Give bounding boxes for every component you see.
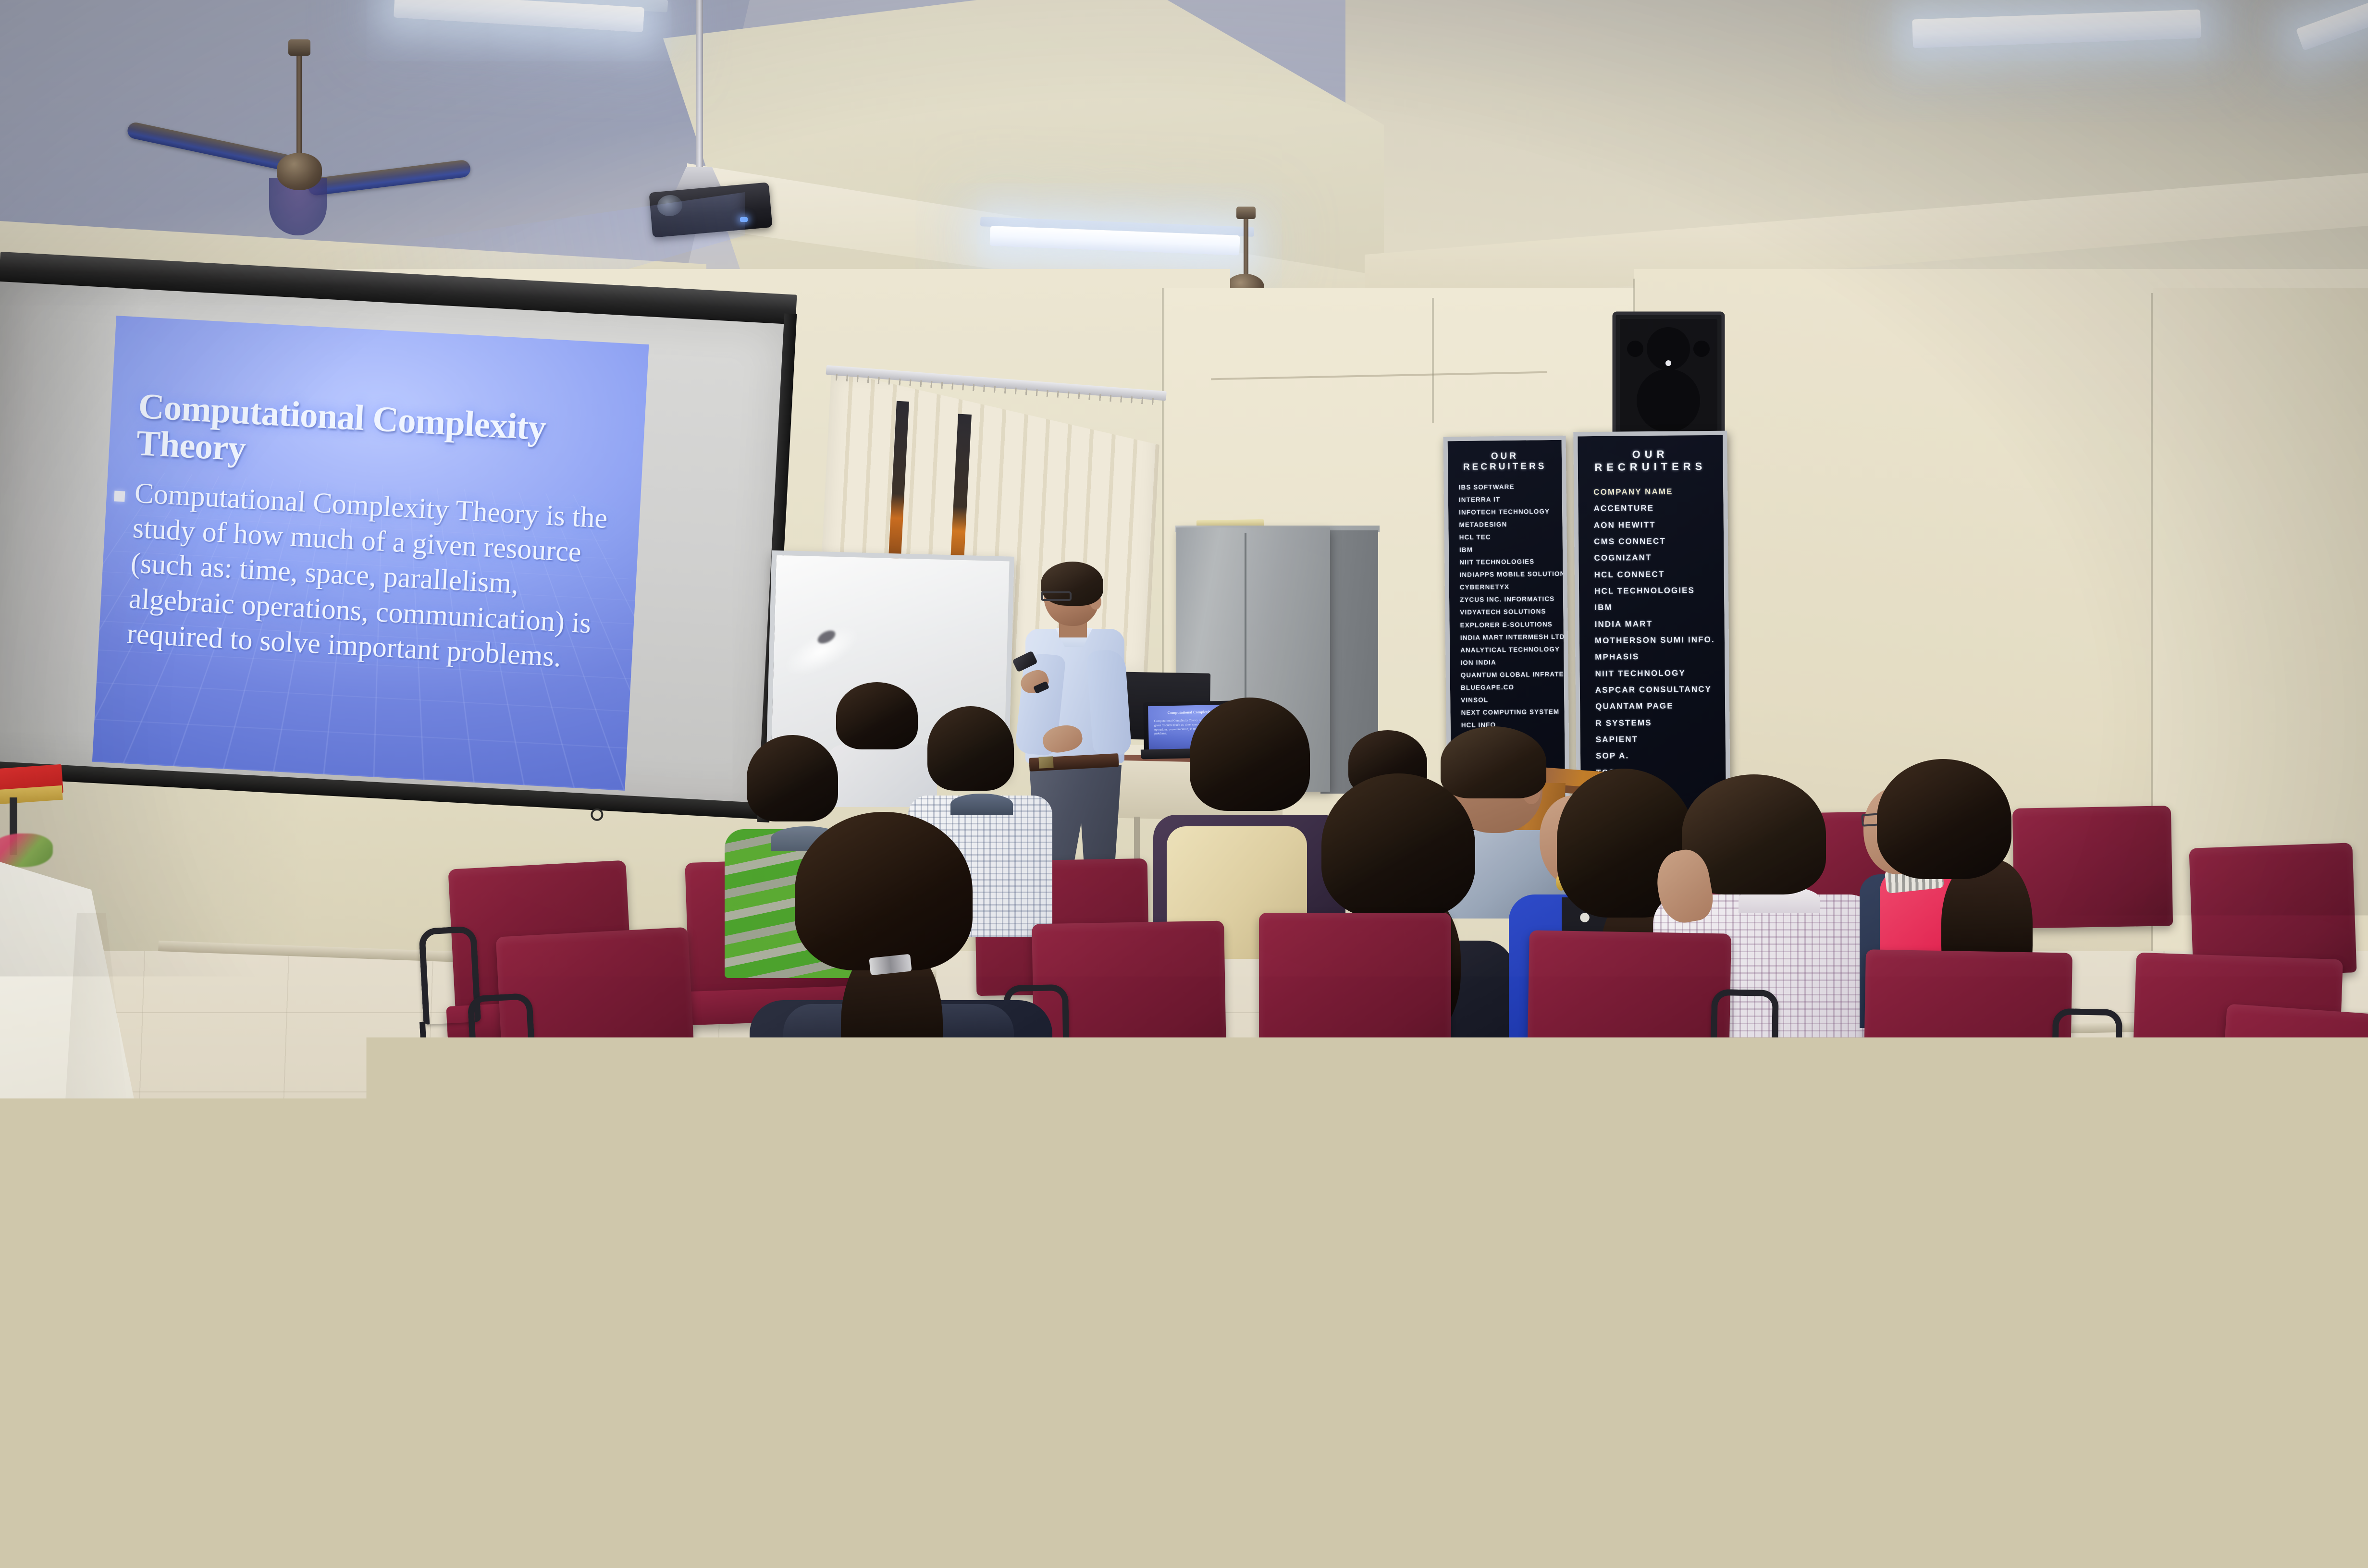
list-item: CMS CONNECT (1594, 533, 1724, 551)
flower-bouquet (0, 833, 53, 867)
chair-armrest (2043, 1242, 2140, 1409)
wall-seam (1432, 298, 1434, 423)
projector-mount-pole (696, 0, 703, 183)
list-item: IBS SOFTWARE (1458, 480, 1562, 494)
ceiling-fan-rod (296, 46, 302, 168)
list-item: MPHASIS (1595, 648, 1725, 666)
list-item: HCL TECHNOLOGIES (1594, 582, 1724, 600)
chair-back-foreground[interactable] (2143, 1096, 2368, 1339)
chair-back-foreground[interactable] (1476, 1206, 1773, 1466)
list-item: HCL TEC (1459, 530, 1563, 544)
list-item: R SYSTEMS (1595, 714, 1725, 732)
list-item: CYBERNETYX (1460, 580, 1563, 594)
list-item: ANALYTICAL TECHNOLOGY (1460, 643, 1564, 656)
list-item: INFOTECH TECHNOLOGY (1459, 505, 1562, 519)
glasses-icon (1041, 591, 1072, 601)
ceiling-fan-canopy (1236, 207, 1256, 219)
audience-hair (1877, 759, 2011, 879)
chair-leg (703, 1433, 916, 1568)
audience-hair (1190, 698, 1310, 811)
list-item: NIIT TECHNOLOGIES (1459, 555, 1563, 569)
list-item: ASPCAR CONSULTANCY (1595, 681, 1725, 699)
list-item: SAPIENT (1596, 731, 1726, 748)
list-item: VINSOL (1461, 693, 1564, 707)
audience-hair (747, 735, 838, 821)
list-item: QUANTAM PAGE (1595, 698, 1725, 715)
chair-leg (392, 1234, 568, 1437)
slide-bullet-text: Computational Complexity Theory is the s… (126, 476, 633, 678)
chair-armrest (1062, 1316, 1153, 1482)
list-item: SOP A. (1596, 747, 1726, 765)
list-item: INDIAPPS MOBILE SOLUTIONS (1459, 568, 1563, 581)
list-item: MOTHERSON SUMI INFO. (1595, 632, 1725, 649)
ceiling-fan-canopy (288, 39, 310, 56)
ceiling-fan-motor (277, 153, 322, 190)
slide-title: Computational Complexity Theory (136, 388, 624, 488)
shoe-icon (817, 1360, 899, 1411)
list-item: AON HEWITT (1594, 516, 1724, 534)
chair-leg (2052, 1397, 2268, 1568)
chair-armrest (699, 1276, 793, 1438)
list-item: QUANTUM GLOBAL INFRATECH (1461, 668, 1564, 681)
list-item: INTERRA IT (1459, 493, 1562, 506)
chair-leg (1067, 1484, 1283, 1568)
audience-hair (795, 812, 973, 970)
list-item: NEXT COMPUTING SYSTEM (1461, 706, 1564, 719)
projection-screen: Computational Complexity Theory Computat… (0, 252, 797, 822)
chair-back-foreground[interactable] (1801, 1156, 2082, 1410)
chair-armrest (390, 1112, 470, 1242)
audience-hair (1321, 773, 1475, 918)
list-item: IBM (1459, 543, 1563, 556)
list-item: ACCENTURE (1593, 500, 1723, 517)
list-item: METADESIGN (1459, 518, 1562, 531)
list-item: BLUEGAPE.CO (1461, 681, 1564, 694)
slide-bullet-row: Computational Complexity Theory is the s… (106, 475, 633, 678)
list-item: VIDYATECH SOLUTIONS (1460, 605, 1563, 619)
seminar-hall-photo: Computational Complexity Theory Computat… (0, 0, 2368, 1568)
list-item: NIIT TECHNOLOGY (1595, 664, 1725, 682)
list-item: IBM (1594, 599, 1724, 616)
chair-leg (1438, 1461, 1661, 1568)
list-item: ION INDIA (1460, 655, 1564, 669)
audience-hair (927, 706, 1014, 791)
projected-slide: Computational Complexity Theory Computat… (92, 316, 649, 791)
notice-board-title: OUR RECRUITERS (1448, 451, 1562, 473)
list-item: HCL CONNECT (1594, 565, 1724, 583)
list-item: COMPANY NAME (1593, 483, 1723, 501)
square-bullet-icon (114, 490, 125, 502)
list-item: INDIA MART (1595, 615, 1725, 633)
notice-board-title: OUR RECRUITERS (1578, 448, 1723, 474)
presenter-arm (1086, 649, 1132, 757)
list-item: EXPLORER E-SOLUTIONS (1460, 618, 1563, 631)
list-item: ZYCUS INC. INFORMATICS (1460, 593, 1563, 606)
audience-person-ponytail (750, 812, 1052, 1177)
ceiling-fan-rod (1244, 211, 1248, 281)
list-item: COGNIZANT (1594, 549, 1724, 567)
speaker-icon (1612, 311, 1725, 439)
chair-armrest (636, 1146, 719, 1285)
list-item: INDIA MART INTERMESH LTD. (1460, 630, 1564, 644)
